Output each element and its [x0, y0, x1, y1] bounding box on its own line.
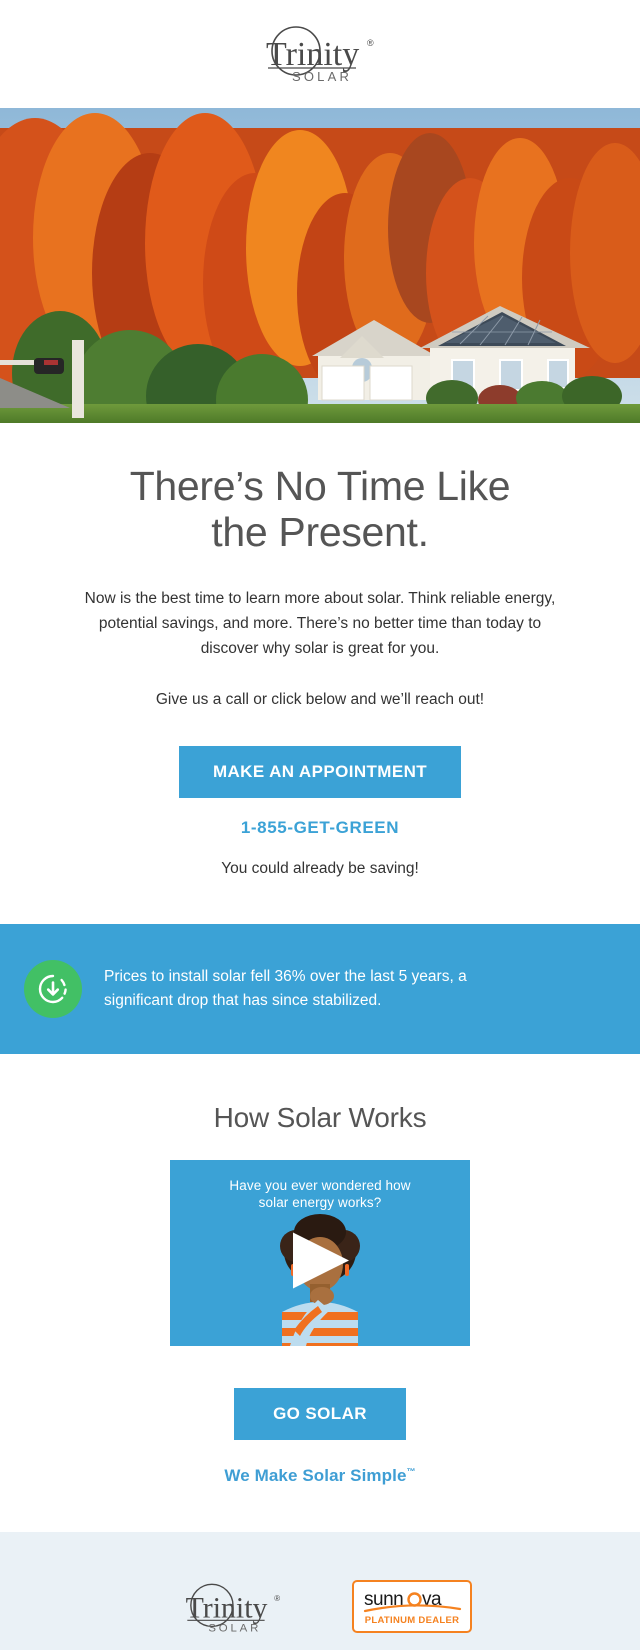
- svg-text:®: ®: [367, 38, 374, 48]
- go-solar-button[interactable]: GO SOLAR: [234, 1388, 406, 1440]
- svg-text:Trinity: Trinity: [186, 1592, 268, 1625]
- trinity-logo-footer-icon: Trinity ® SOLAR: [168, 1582, 298, 1634]
- svg-text:SOLAR: SOLAR: [208, 1623, 261, 1634]
- saving-note: You could already be saving!: [46, 860, 594, 878]
- headline-line-1: There’s No Time Like: [130, 463, 511, 509]
- svg-text:SOLAR: SOLAR: [292, 69, 352, 83]
- section-title: How Solar Works: [0, 1102, 640, 1134]
- price-drop-icon: [24, 960, 82, 1018]
- call-prompt-paragraph: Give us a call or click below and we’ll …: [70, 687, 570, 712]
- intro-paragraph: Now is the best time to learn more about…: [70, 586, 570, 661]
- svg-text:®: ®: [274, 1594, 280, 1603]
- play-triangle-glyph: [287, 1230, 353, 1292]
- sunnova-wordmark: sunn va: [362, 1588, 462, 1614]
- page-title: There’s No Time Like the Present.: [46, 463, 594, 556]
- trademark-mark: ™: [407, 1466, 416, 1476]
- email-footer: Trinity ® SOLAR sunn va PLATINUM DEALER: [0, 1532, 640, 1650]
- phone-number-link[interactable]: 1-855-GET-GREEN: [46, 818, 594, 838]
- trinity-solar-logo-header[interactable]: Trinity ® SOLAR: [246, 25, 394, 83]
- headline-line-2: the Present.: [211, 509, 428, 555]
- video-thumbnail[interactable]: Have you ever wondered how solar energy …: [170, 1160, 470, 1346]
- email-page: Trinity ® SOLAR: [0, 0, 640, 1650]
- sunnova-dealer-status: PLATINUM DEALER: [362, 1615, 462, 1626]
- hero-image: [0, 108, 640, 423]
- video-caption-line-1: Have you ever wondered how: [229, 1178, 410, 1193]
- trinity-solar-logo-footer[interactable]: Trinity ® SOLAR: [168, 1582, 298, 1639]
- make-an-appointment-button[interactable]: MAKE AN APPOINTMENT: [179, 746, 461, 798]
- hero-illustration: [0, 108, 640, 423]
- price-drop-glyph: [36, 972, 70, 1006]
- tagline-text: We Make Solar Simple: [224, 1466, 406, 1485]
- fact-text: Prices to install solar fell 36% over th…: [104, 965, 534, 1013]
- main-content: There’s No Time Like the Present. Now is…: [0, 423, 640, 878]
- primary-cta-wrap: MAKE AN APPOINTMENT 1-855-GET-GREEN You …: [46, 746, 594, 878]
- video-caption: Have you ever wondered how solar energy …: [170, 1178, 470, 1212]
- how-solar-works-section: How Solar Works: [0, 1054, 640, 1486]
- fact-banner: Prices to install solar fell 36% over th…: [0, 924, 640, 1054]
- play-icon[interactable]: [287, 1230, 353, 1292]
- email-header: Trinity ® SOLAR: [0, 0, 640, 108]
- tagline: We Make Solar Simple™: [0, 1466, 640, 1486]
- video-caption-line-2: solar energy works?: [259, 1195, 382, 1210]
- trinity-logo-icon: Trinity ® SOLAR: [246, 25, 394, 83]
- sunnova-platinum-dealer-badge[interactable]: sunn va PLATINUM DEALER: [352, 1580, 472, 1633]
- sunnova-logo-icon: sunn va: [362, 1588, 466, 1614]
- go-solar-cta-wrap: GO SOLAR: [0, 1388, 640, 1440]
